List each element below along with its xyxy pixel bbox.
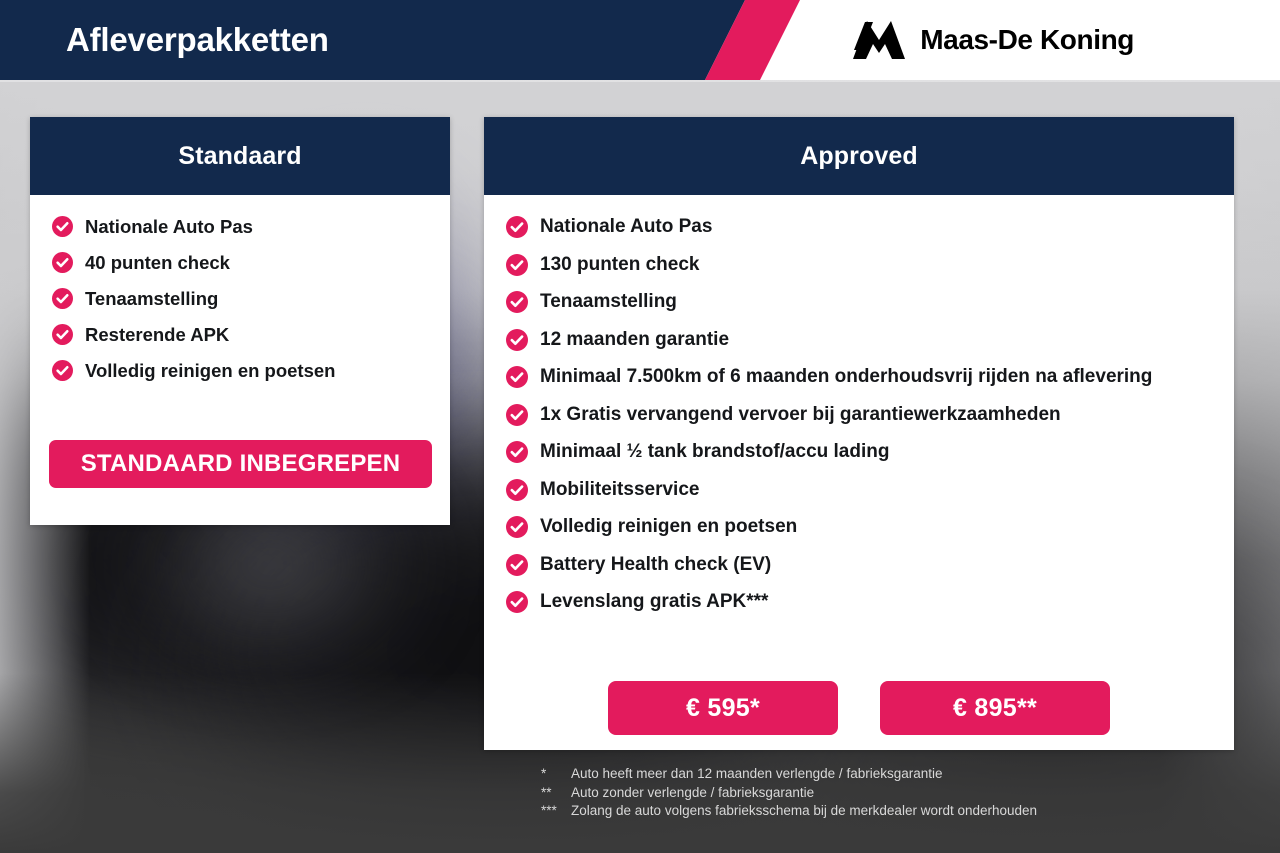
feature-list-standaard: Nationale Auto Pas40 punten checkTenaams… — [52, 215, 428, 382]
feature-item: Volledig reinigen en poetsen — [52, 359, 428, 382]
check-circle-icon — [52, 216, 73, 237]
footnote-row: *Auto heeft meer dan 12 maanden verlengd… — [541, 765, 1241, 784]
feature-item: Resterende APK — [52, 323, 428, 346]
page-header: Afleverpakketten Maas-De Koning — [0, 0, 1280, 80]
standaard-inbegrepen-button[interactable]: STANDAARD INBEGREPEN — [49, 440, 432, 488]
check-circle-icon — [52, 252, 73, 273]
footnote-marker: *** — [541, 802, 571, 821]
check-circle-icon — [506, 216, 528, 238]
feature-label: Tenaamstelling — [540, 290, 1212, 314]
check-circle-icon — [52, 288, 73, 309]
brand-name: Maas-De Koning — [920, 24, 1134, 56]
footnote-row: ***Zolang de auto volgens fabrieksschema… — [541, 802, 1241, 821]
check-circle-icon — [506, 554, 528, 576]
footnote-text: Auto zonder verlengde / fabrieksgarantie — [571, 784, 814, 803]
check-circle-icon — [506, 441, 528, 463]
card-body-approved: Nationale Auto Pas130 punten checkTenaam… — [484, 195, 1234, 614]
check-circle-icon — [506, 441, 528, 463]
footnotes: *Auto heeft meer dan 12 maanden verlengd… — [541, 765, 1241, 821]
check-circle-icon — [506, 404, 528, 426]
feature-item: Nationale Auto Pas — [52, 215, 428, 238]
card-title-standaard: Standaard — [30, 117, 450, 195]
check-circle-icon — [52, 216, 73, 237]
feature-label: Tenaamstelling — [85, 287, 428, 310]
feature-label: Minimaal 7.500km of 6 maanden onderhouds… — [540, 365, 1212, 389]
feature-label: Minimaal ½ tank brandstof/accu lading — [540, 440, 1212, 464]
check-circle-icon — [506, 291, 528, 313]
header-bottom-divider — [0, 80, 1280, 82]
check-circle-icon — [506, 329, 528, 351]
feature-label: Nationale Auto Pas — [85, 215, 428, 238]
footnote-row: **Auto zonder verlengde / fabrieksgarant… — [541, 784, 1241, 803]
check-circle-icon — [506, 591, 528, 613]
feature-label: 40 punten check — [85, 251, 428, 274]
check-circle-icon — [506, 554, 528, 576]
feature-label: Levenslang gratis APK*** — [540, 590, 1212, 614]
check-circle-icon — [506, 329, 528, 351]
feature-label: 12 maanden garantie — [540, 328, 1212, 352]
feature-label: Volledig reinigen en poetsen — [540, 515, 1212, 539]
page-stage: Afleverpakketten Maas-De Koning Standaar… — [0, 0, 1280, 853]
feature-label: 1x Gratis vervangend vervoer bij garanti… — [540, 403, 1212, 427]
feature-item: Levenslang gratis APK*** — [506, 590, 1212, 614]
check-circle-icon — [506, 591, 528, 613]
check-circle-icon — [506, 516, 528, 538]
feature-item: Minimaal 7.500km of 6 maanden onderhouds… — [506, 365, 1212, 389]
card-title-approved: Approved — [484, 117, 1234, 195]
check-circle-icon — [506, 366, 528, 388]
feature-item: 130 punten check — [506, 253, 1212, 277]
feature-item: Tenaamstelling — [52, 287, 428, 310]
footnote-marker: ** — [541, 784, 571, 803]
page-title: Afleverpakketten — [66, 0, 329, 80]
feature-label: Mobiliteitsservice — [540, 478, 1212, 502]
check-circle-icon — [52, 324, 73, 345]
check-circle-icon — [506, 254, 528, 276]
check-circle-icon — [52, 324, 73, 345]
feature-label: 130 punten check — [540, 253, 1212, 277]
feature-label: Nationale Auto Pas — [540, 215, 1212, 239]
footnote-text: Zolang de auto volgens fabrieksschema bi… — [571, 802, 1037, 821]
check-circle-icon — [52, 360, 73, 381]
feature-item: Nationale Auto Pas — [506, 215, 1212, 239]
price-button-1[interactable]: € 595* — [608, 681, 838, 735]
check-circle-icon — [506, 404, 528, 426]
price-button-row: € 595*€ 895** — [484, 681, 1234, 735]
check-circle-icon — [506, 216, 528, 238]
feature-item: 1x Gratis vervangend vervoer bij garanti… — [506, 403, 1212, 427]
feature-item: Tenaamstelling — [506, 290, 1212, 314]
check-circle-icon — [506, 254, 528, 276]
brand-logo: Maas-De Koning — [851, 0, 1134, 80]
check-circle-icon — [52, 360, 73, 381]
check-circle-icon — [506, 291, 528, 313]
check-circle-icon — [52, 288, 73, 309]
package-card-approved: Approved Nationale Auto Pas130 punten ch… — [484, 117, 1234, 750]
check-circle-icon — [52, 252, 73, 273]
feature-item: Minimaal ½ tank brandstof/accu lading — [506, 440, 1212, 464]
feature-item: 40 punten check — [52, 251, 428, 274]
feature-label: Volledig reinigen en poetsen — [85, 359, 428, 382]
feature-item: 12 maanden garantie — [506, 328, 1212, 352]
price-button-2[interactable]: € 895** — [880, 681, 1110, 735]
check-circle-icon — [506, 516, 528, 538]
feature-label: Battery Health check (EV) — [540, 553, 1212, 577]
footnote-text: Auto heeft meer dan 12 maanden verlengde… — [571, 765, 943, 784]
card-body-standaard: Nationale Auto Pas40 punten checkTenaams… — [30, 195, 450, 382]
check-circle-icon — [506, 479, 528, 501]
feature-label: Resterende APK — [85, 323, 428, 346]
footnote-marker: * — [541, 765, 571, 784]
feature-item: Battery Health check (EV) — [506, 553, 1212, 577]
feature-item: Mobiliteitsservice — [506, 478, 1212, 502]
maas-de-koning-m-logo-icon — [851, 19, 907, 61]
check-circle-icon — [506, 479, 528, 501]
feature-list-approved: Nationale Auto Pas130 punten checkTenaam… — [506, 215, 1212, 614]
feature-item: Volledig reinigen en poetsen — [506, 515, 1212, 539]
check-circle-icon — [506, 366, 528, 388]
